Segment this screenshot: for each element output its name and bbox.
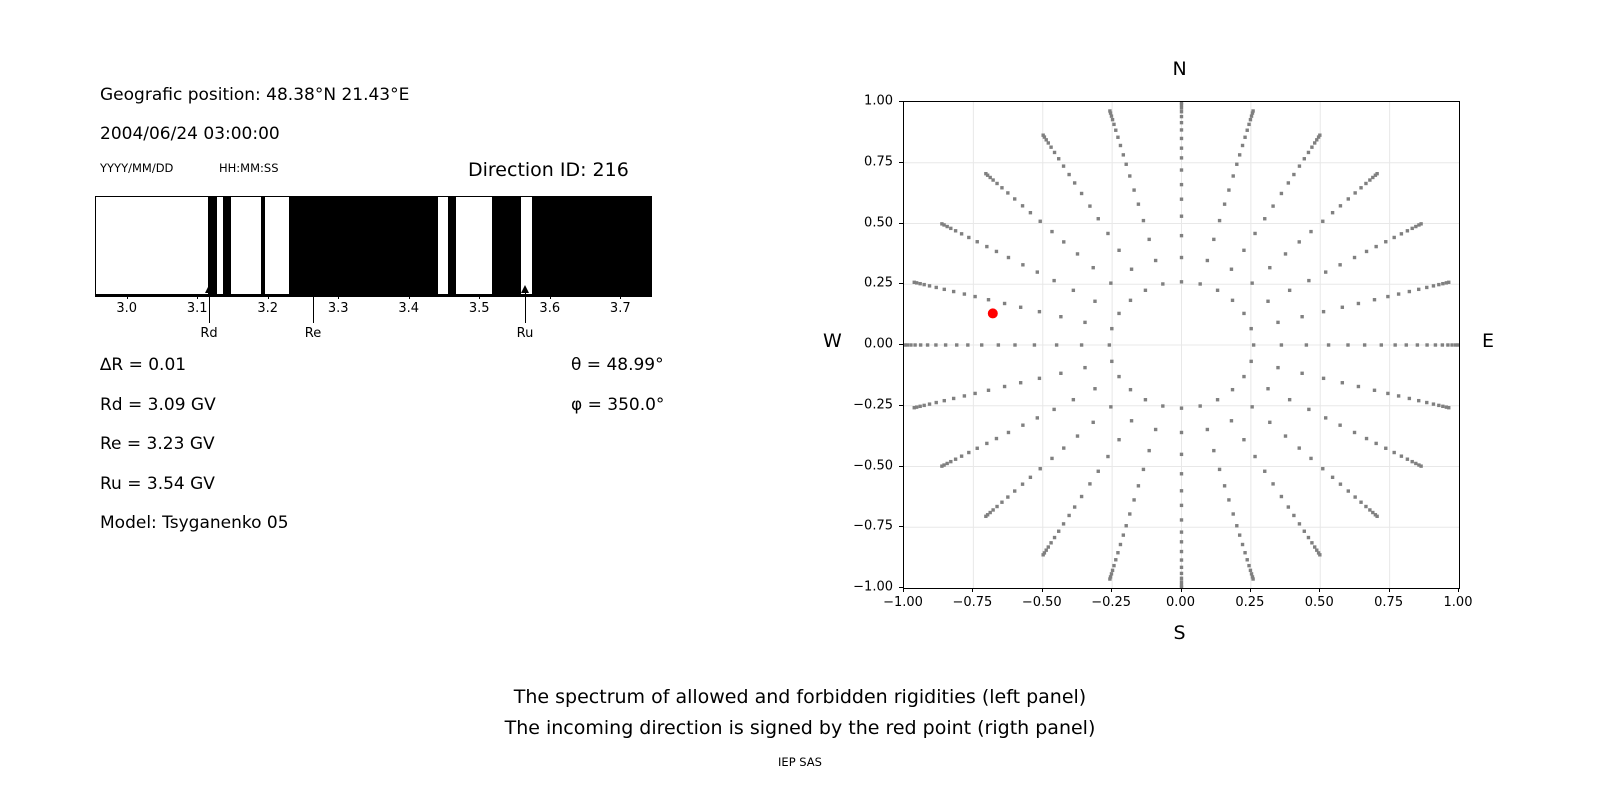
marker-arrow-head-icon: [205, 285, 213, 293]
polar-y-tick-label: 1.00: [841, 94, 893, 109]
polar-y-tick-label: 0.00: [841, 337, 893, 352]
figure-caption: The spectrum of allowed and forbidden ri…: [0, 682, 1600, 744]
polar-y-tick: [899, 405, 903, 406]
compass-south-label: S: [1174, 622, 1186, 644]
polar-x-tick-label: 1.00: [1444, 595, 1473, 610]
polar-y-tick-label: −0.25: [841, 397, 893, 412]
rigidity-spectrum-chart: [95, 196, 652, 295]
polar-y-tick-label: −1.00: [841, 580, 893, 595]
marker-label: Ru: [517, 326, 534, 341]
spectrum-tick-label: 3.6: [539, 301, 560, 316]
spectrum-tick-label: 3.7: [610, 301, 631, 316]
polar-x-tick-label: −0.75: [952, 595, 992, 610]
compass-north-label: N: [1173, 58, 1187, 80]
polar-x-tick: [903, 588, 904, 592]
polar-y-tick: [899, 344, 903, 345]
polar-x-tick-label: −0.50: [1022, 595, 1062, 610]
polar-y-tick-label: −0.75: [841, 519, 893, 534]
parameter-line: Rd = 3.09 GV: [100, 395, 216, 415]
spectrum-tick: [268, 295, 269, 299]
direction-map-panel: N S E W −1.00−0.75−0.50−0.250.000.250.50…: [760, 0, 1600, 660]
date-format-hint: YYYY/MM/DD: [100, 161, 173, 175]
polar-x-tick-label: −0.25: [1091, 595, 1131, 610]
forbidden-band: [223, 197, 231, 294]
compass-east-label: E: [1482, 330, 1494, 352]
forbidden-band: [492, 197, 521, 294]
parameter-line: Model: Tsyganenko 05: [100, 513, 289, 533]
direction-id-label: Direction ID: 216: [468, 159, 629, 181]
spectrum-bar: [95, 196, 652, 295]
forbidden-band: [448, 197, 456, 294]
polar-y-tick-label: 0.25: [841, 276, 893, 291]
polar-y-tick-label: −0.50: [841, 458, 893, 473]
spectrum-tick-label: 3.5: [469, 301, 490, 316]
parameter-line: ∆R = 0.01: [100, 355, 186, 375]
forbidden-band: [532, 197, 652, 294]
compass-west-label: W: [823, 330, 842, 352]
polar-x-tick-label: 0.50: [1305, 595, 1334, 610]
polar-y-tick: [899, 283, 903, 284]
polar-y-tick: [899, 466, 903, 467]
polar-y-tick: [899, 223, 903, 224]
forbidden-band: [289, 197, 372, 294]
marker-label: Rd: [200, 326, 217, 341]
incoming-direction-point: [988, 308, 998, 318]
polar-x-tick: [972, 588, 973, 592]
caption-line-2: The incoming direction is signed by the …: [0, 713, 1600, 744]
time-format-hint: HH:MM:SS: [219, 161, 279, 175]
spectrum-tick-label: 3.0: [116, 301, 137, 316]
spectrum-tick: [197, 295, 198, 299]
spectrum-tick-label: 3.1: [187, 301, 208, 316]
marker-arrow-shaft: [525, 292, 526, 323]
parameter-line: Re = 3.23 GV: [100, 434, 215, 454]
spectrum-tick: [550, 295, 551, 299]
marker-arrow-head-icon: [309, 285, 317, 293]
spectrum-tick: [409, 295, 410, 299]
spectrum-tick-label: 3.4: [398, 301, 419, 316]
spectrum-tick: [127, 295, 128, 299]
polar-x-tick-label: 0.75: [1374, 595, 1403, 610]
spectrum-tick-label: 3.3: [328, 301, 349, 316]
polar-x-tick: [1389, 588, 1390, 592]
polar-x-tick: [1250, 588, 1251, 592]
polar-plot-area: [903, 101, 1460, 589]
polar-x-tick-label: 0.00: [1166, 595, 1195, 610]
polar-x-tick: [1181, 588, 1182, 592]
marker-arrow-shaft: [209, 292, 210, 323]
polar-x-tick: [1042, 588, 1043, 592]
footer-credit: IEP SAS: [0, 755, 1600, 769]
spectrum-tick: [479, 295, 480, 299]
spectrum-tick: [338, 295, 339, 299]
forbidden-band: [208, 197, 217, 294]
forbidden-band: [261, 197, 265, 294]
angle-parameter-line: θ = 48.99°: [571, 355, 664, 375]
spectrum-tick: [620, 295, 621, 299]
polar-x-tick-label: −1.00: [883, 595, 923, 610]
marker-arrow-head-icon: [521, 285, 529, 293]
polar-x-tick: [1319, 588, 1320, 592]
angle-parameter-line: φ = 350.0°: [571, 395, 664, 415]
marker-arrow-shaft: [313, 292, 314, 323]
spectrum-tick-label: 3.2: [257, 301, 278, 316]
parameter-line: Ru = 3.54 GV: [100, 474, 215, 494]
polar-scatter-svg: [904, 102, 1459, 588]
polar-y-tick: [899, 101, 903, 102]
geographic-position-label: Geografic position: 48.38°N 21.43°E: [100, 85, 409, 105]
marker-label: Re: [305, 326, 321, 341]
caption-line-1: The spectrum of allowed and forbidden ri…: [0, 682, 1600, 713]
spectrum-x-axis: [95, 295, 652, 297]
polar-x-tick: [1458, 588, 1459, 592]
polar-y-tick-label: 0.50: [841, 215, 893, 230]
datetime-label: 2004/06/24 03:00:00: [100, 124, 280, 144]
polar-y-tick: [899, 526, 903, 527]
polar-x-tick-label: 0.25: [1235, 595, 1264, 610]
forbidden-band: [372, 197, 438, 294]
polar-x-tick: [1111, 588, 1112, 592]
rigidity-spectrum-panel: Geografic position: 48.38°N 21.43°E 2004…: [0, 0, 760, 660]
polar-y-tick-label: 0.75: [841, 154, 893, 169]
polar-y-tick: [899, 162, 903, 163]
